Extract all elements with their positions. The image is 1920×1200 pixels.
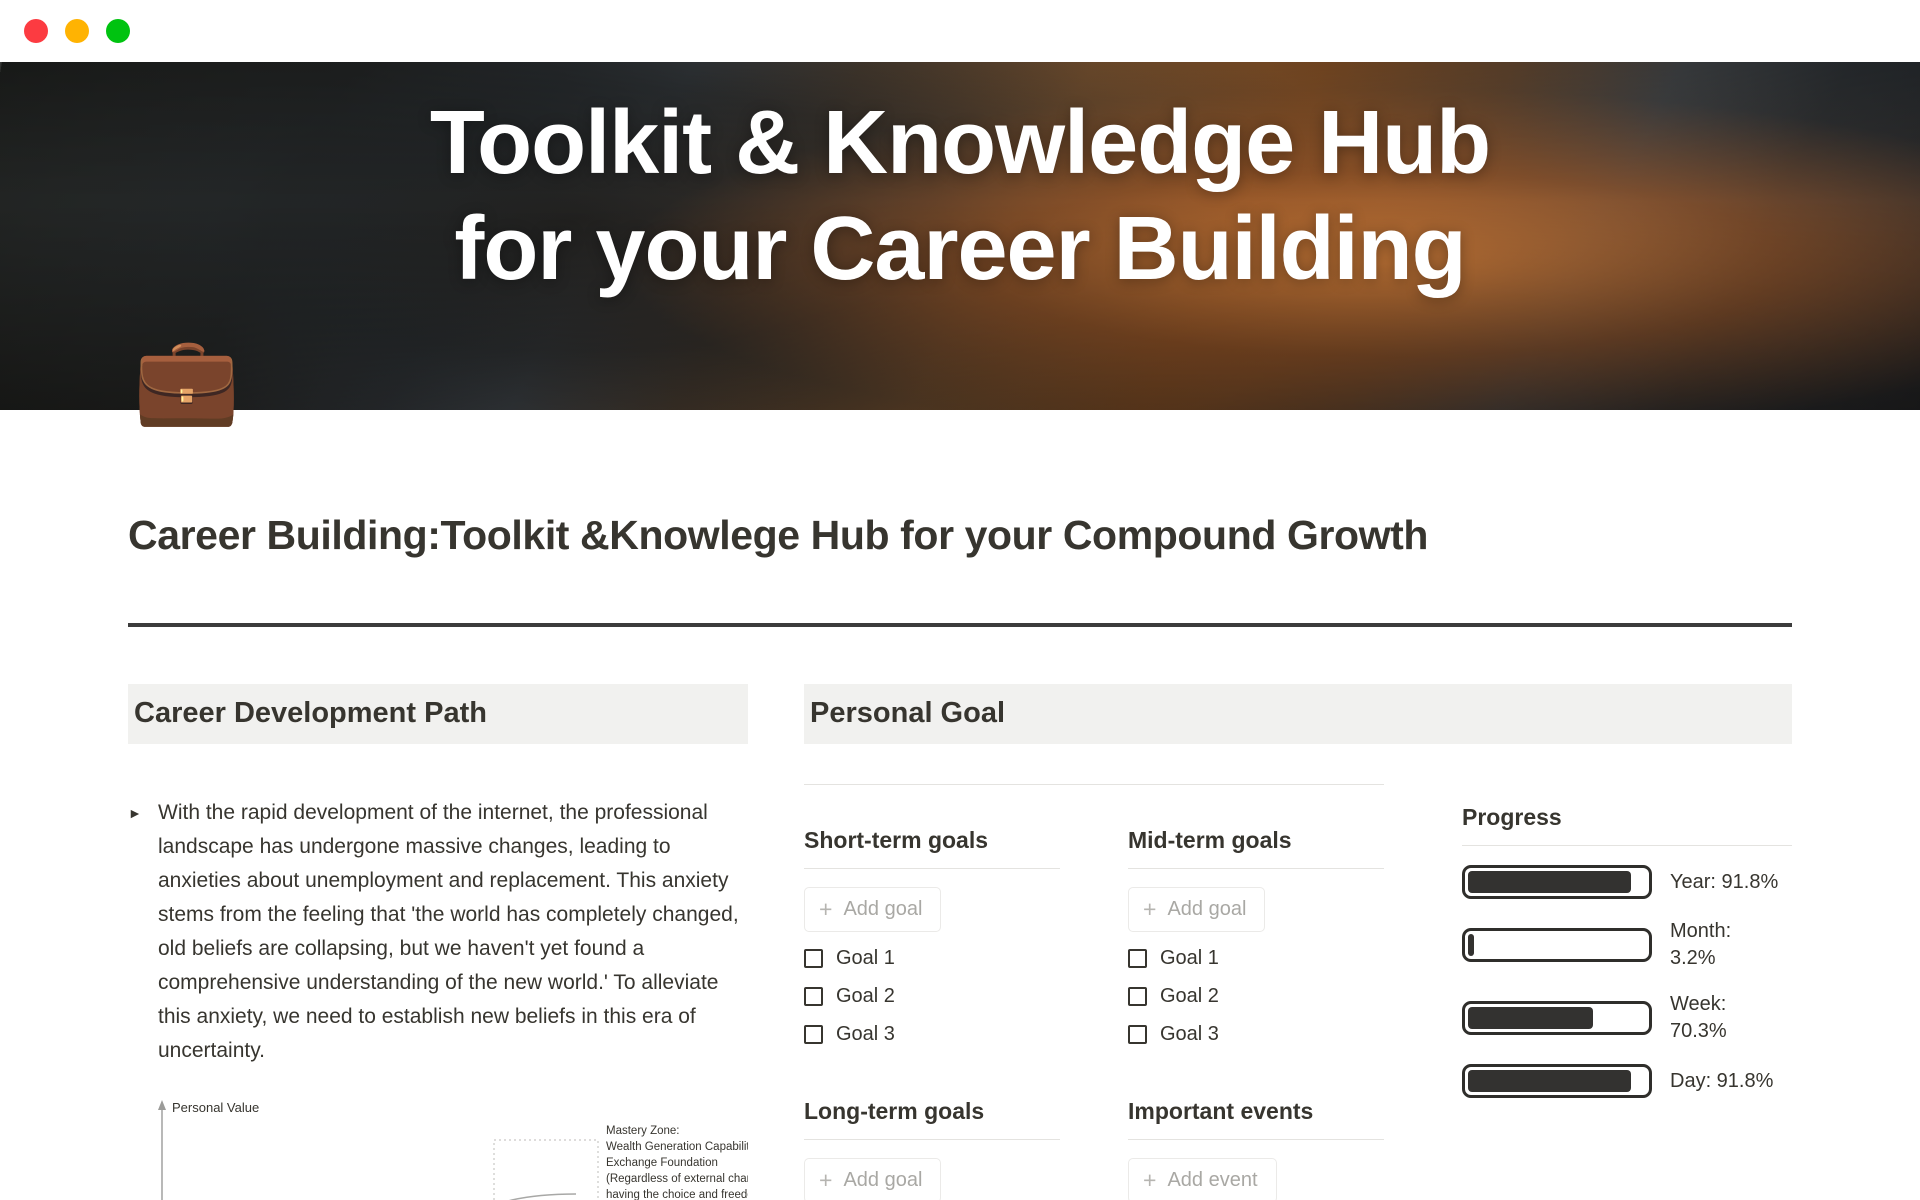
career-path-paragraph: With the rapid development of the intern… (158, 796, 748, 1068)
goal-list-item[interactable]: Goal 2 (1128, 985, 1384, 1008)
goal-group-title: Mid-term goals (1128, 827, 1384, 868)
progress-title: Progress (1462, 804, 1792, 845)
mastery-zone-label-line-1: Mastery Zone: (606, 1125, 680, 1137)
goal-group-important-events: Important events + Add event (1128, 1098, 1384, 1200)
progress-bar-week (1462, 1001, 1652, 1035)
personal-goal-column: Personal Goal Short-term goals + Add goa… (804, 684, 1792, 1200)
growth-curve-2-path (398, 1194, 576, 1200)
toggle-triangle-icon[interactable]: ► (128, 796, 144, 1068)
progress-bar-fill (1468, 934, 1474, 956)
goal-group-long-term: Long-term goals + Add goal (804, 1098, 1060, 1200)
cover-image[interactable]: Toolkit & Knowledge Hub for your Career … (0, 62, 1920, 410)
add-goal-button-short-term[interactable]: + Add goal (804, 887, 941, 932)
briefcase-icon[interactable]: 💼 (133, 337, 240, 423)
add-goal-label: Add goal (1167, 898, 1246, 921)
goal-checkbox[interactable] (804, 1025, 823, 1044)
y-axis-label: Personal Value (172, 1100, 259, 1115)
goal-group-mid-term: Mid-term goals + Add goal Goal 1 (1128, 827, 1384, 1046)
progress-label-year: Year: 91.8% (1670, 869, 1778, 896)
cover-title-line-1: Toolkit & Knowledge Hub (430, 93, 1490, 193)
goal-list-item[interactable]: Goal 3 (804, 1023, 1060, 1046)
goal-checkbox[interactable] (804, 949, 823, 968)
goal-list-item[interactable]: Goal 2 (804, 985, 1060, 1008)
progress-row-month: Month: 3.2% (1462, 918, 1792, 972)
goal-group-short-term: Short-term goals + Add goal Goal 1 (804, 827, 1060, 1046)
goal-checkbox[interactable] (1128, 987, 1147, 1006)
goal-group-rule (1128, 868, 1384, 869)
goal-list-item[interactable]: Goal 3 (1128, 1023, 1384, 1046)
goal-group-rule (804, 1139, 1060, 1140)
progress-label-month: Month: 3.2% (1670, 918, 1782, 972)
section-header-personal-goal[interactable]: Personal Goal (804, 684, 1792, 744)
goal-checkbox[interactable] (804, 987, 823, 1006)
progress-bar-fill (1468, 1070, 1631, 1092)
cover-title-line-2: for your Career Building (0, 196, 1920, 302)
progress-bar-day (1462, 1064, 1652, 1098)
progress-label-week: Week: 70.3% (1670, 991, 1782, 1045)
goal-list-item[interactable]: Goal 1 (804, 947, 1060, 970)
goal-groups: Short-term goals + Add goal Goal 1 (804, 784, 1406, 1200)
mastery-zone-label-line-4: (Regardless of external changes, always (606, 1173, 748, 1185)
minimize-button[interactable] (65, 19, 89, 43)
columns-container: Career Development Path ► With the rapid… (128, 684, 1792, 1200)
add-goal-button-long-term[interactable]: + Add goal (804, 1158, 941, 1200)
goal-group-rule (804, 868, 1060, 869)
goal-checkbox[interactable] (1128, 1025, 1147, 1044)
progress-bar-fill (1468, 1007, 1593, 1029)
goal-label: Goal 2 (836, 985, 895, 1008)
plus-icon: + (1143, 1169, 1156, 1192)
page-title[interactable]: Career Building:Toolkit &Knowlege Hub fo… (128, 512, 1792, 559)
window-controls (24, 19, 130, 43)
progress-row-year: Year: 91.8% (1462, 865, 1792, 899)
progress-rule (1462, 845, 1792, 846)
plus-icon: + (819, 1169, 832, 1192)
goal-group-title: Short-term goals (804, 827, 1060, 868)
goal-grid-row-2: Long-term goals + Add goal Important eve… (804, 1098, 1406, 1200)
personal-value-growth-curve-diagram[interactable]: Personal Value Growth Curve 2: Business … (128, 1098, 748, 1200)
career-path-toggle-block: ► With the rapid development of the inte… (128, 796, 748, 1068)
goal-group-title: Long-term goals (804, 1098, 1060, 1139)
window-titlebar (0, 0, 1920, 62)
plus-icon: + (819, 898, 832, 921)
growth-curve-svg: Personal Value Growth Curve 2: Business … (128, 1098, 748, 1200)
mastery-zone-label-line-3: Exchange Foundation (606, 1157, 718, 1169)
page-divider (128, 623, 1792, 627)
mastery-zone-label-line-2: Wealth Generation Capability+ Value (606, 1141, 748, 1153)
goal-label: Goal 1 (836, 947, 895, 970)
maximize-button[interactable] (106, 19, 130, 43)
section-header-career-development-path[interactable]: Career Development Path (128, 684, 748, 744)
goal-top-rule (804, 784, 1384, 785)
goal-label: Goal 3 (1160, 1023, 1219, 1046)
add-goal-button-mid-term[interactable]: + Add goal (1128, 887, 1265, 932)
goal-and-progress-area: Short-term goals + Add goal Goal 1 (804, 784, 1792, 1200)
y-axis-arrow-icon (158, 1100, 166, 1110)
add-goal-label: Add goal (843, 898, 922, 921)
document-body: Career Building:Toolkit &Knowlege Hub fo… (0, 512, 1920, 1200)
progress-bar-year (1462, 865, 1652, 899)
progress-row-day: Day: 91.8% (1462, 1064, 1792, 1098)
progress-panel: Progress Year: 91.8% Month: 3.2% (1462, 784, 1792, 1200)
add-event-button[interactable]: + Add event (1128, 1158, 1277, 1200)
progress-bar-month (1462, 928, 1652, 962)
mastery-zone-box (494, 1140, 598, 1200)
mastery-zone-label-line-5: having the choice and freedom to earn.) (606, 1189, 748, 1200)
goal-group-title: Important events (1128, 1098, 1384, 1139)
progress-bar-fill (1468, 871, 1631, 893)
goal-checkbox[interactable] (1128, 949, 1147, 968)
close-button[interactable] (24, 19, 48, 43)
plus-icon: + (1143, 898, 1156, 921)
career-development-column: Career Development Path ► With the rapid… (128, 684, 748, 1200)
add-goal-label: Add goal (843, 1169, 922, 1192)
goal-label: Goal 2 (1160, 985, 1219, 1008)
progress-label-day: Day: 91.8% (1670, 1068, 1773, 1095)
goal-label: Goal 1 (1160, 947, 1219, 970)
goal-label: Goal 3 (836, 1023, 895, 1046)
goal-group-rule (1128, 1139, 1384, 1140)
progress-row-week: Week: 70.3% (1462, 991, 1792, 1045)
goal-list-item[interactable]: Goal 1 (1128, 947, 1384, 970)
goal-grid-row-1: Short-term goals + Add goal Goal 1 (804, 827, 1406, 1046)
add-event-label: Add event (1167, 1169, 1257, 1192)
cover-title: Toolkit & Knowledge Hub for your Career … (0, 62, 1920, 302)
